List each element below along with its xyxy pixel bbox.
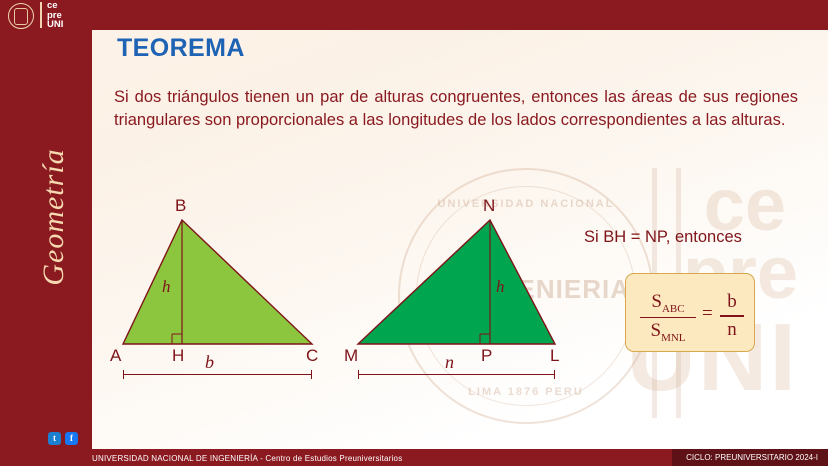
header-bar [0, 0, 828, 30]
footer-left-text: UNIVERSIDAD NACIONAL DE INGENIERÍA - Cen… [92, 454, 402, 463]
formula-right-fraction: b n [720, 291, 744, 341]
sidebar-subject-label: Geometría [37, 127, 71, 307]
formula-right-denominator: n [720, 319, 744, 341]
vertex-label-h: H [172, 346, 184, 366]
base-measure-cap-right-abc [311, 370, 312, 379]
base-measure-cap-left-mnl [358, 370, 359, 379]
page-title: TEOREMA [117, 34, 245, 63]
triangle-mnl-shape [345, 205, 575, 365]
triangle-abc-shape [110, 205, 340, 365]
twitter-icon[interactable]: t [48, 432, 61, 445]
theorem-statement: Si dos triángulos tienen un par de altur… [114, 86, 798, 132]
footer-right-text: CICLO: PREUNIVERSITARIO 2024-I [672, 449, 828, 466]
base-measure-cap-left-abc [123, 370, 124, 379]
vertex-label-n: N [483, 196, 495, 216]
formula-box: SABC SMNL = b n [625, 273, 755, 352]
watermark-bottom-text: LIMA 1876 PERU [400, 386, 652, 398]
slide-root: UNIVERSIDAD NACIONAL DE INGENIERIA 1876 … [0, 0, 828, 466]
vertex-label-c: C [306, 346, 318, 366]
base-measure-cap-right-mnl [554, 370, 555, 379]
formula-left-bar [640, 317, 696, 319]
formula-left-num-symbol: S [651, 291, 662, 312]
formula-left-numerator: SABC [640, 291, 696, 315]
formula-left-den-sub: MNL [661, 332, 685, 344]
formula-left-fraction: SABC SMNL [640, 291, 696, 344]
base-label-n: n [445, 352, 454, 373]
formula-right-bar [720, 315, 744, 317]
base-measure-line-mnl [358, 374, 555, 375]
formula-left-den-symbol: S [650, 320, 661, 341]
social-links-row1[interactable]: t f [48, 432, 78, 445]
uni-seal-icon [8, 3, 34, 29]
vertex-label-a: A [110, 346, 121, 366]
vertex-label-m: M [344, 346, 358, 366]
figure-triangle-mnl: N M P L h n [345, 205, 575, 380]
vertex-label-l: L [550, 346, 559, 366]
base-label-b: b [205, 352, 214, 373]
base-measure-line-abc [123, 374, 312, 375]
formula-left-denominator: SMNL [640, 320, 696, 344]
cepreuni-logo-text: ce pre UNI [47, 1, 63, 30]
condition-text: Si BH = NP, entonces [584, 228, 742, 247]
formula-right-numerator: b [720, 291, 744, 313]
left-sidebar: Geometría [0, 0, 92, 466]
logo-divider [40, 2, 42, 28]
figure-triangle-abc: B A H C h b [110, 205, 340, 380]
formula-equals-sign: = [702, 303, 713, 325]
vertex-label-p: P [481, 346, 492, 366]
formula-left-num-sub: ABC [662, 303, 685, 315]
altitude-label-h-abc: h [162, 277, 171, 297]
vertex-label-b: B [175, 196, 186, 216]
logo-line-uni: UNI [47, 20, 63, 30]
altitude-label-h-mnl: h [496, 277, 505, 297]
facebook-icon[interactable]: f [65, 432, 78, 445]
